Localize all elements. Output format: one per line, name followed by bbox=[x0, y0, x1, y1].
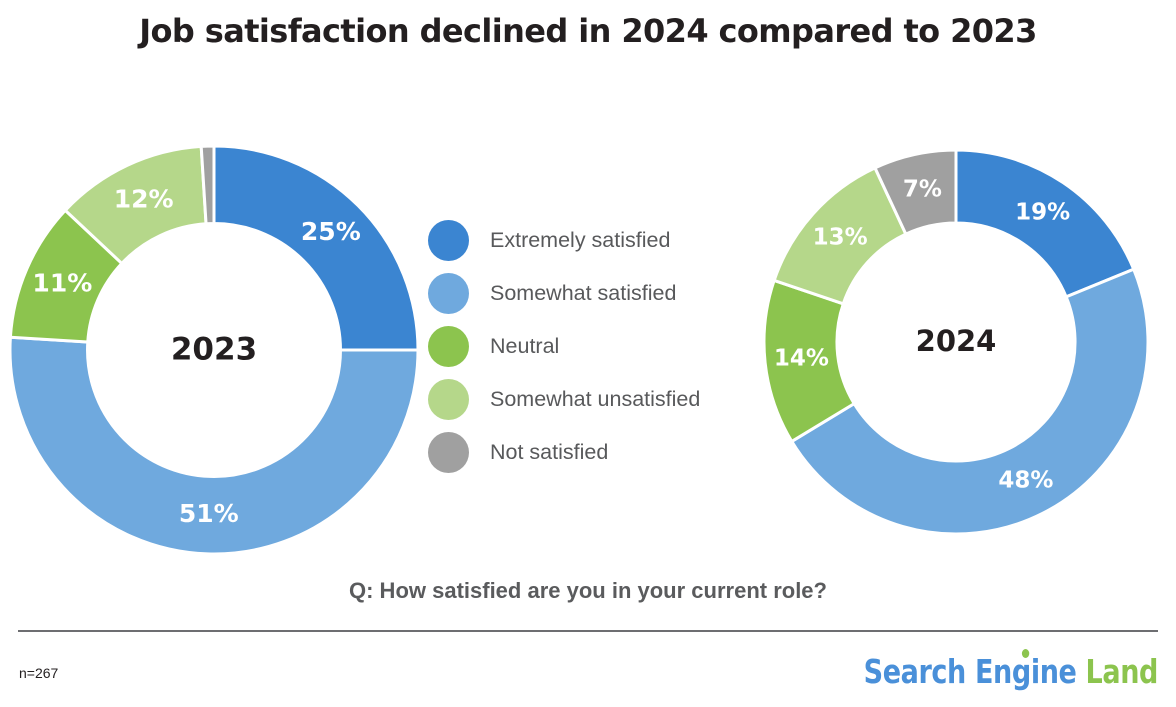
chart-title: Job satisfaction declined in 2024 compar… bbox=[0, 12, 1176, 50]
donut-center-label-2023: 2023 bbox=[171, 332, 257, 368]
legend-swatch-icon bbox=[428, 326, 469, 367]
logo-dot-icon bbox=[1022, 649, 1029, 658]
legend-label: Somewhat unsatisfied bbox=[490, 387, 700, 412]
legend-swatch-icon bbox=[428, 220, 469, 261]
donut-slice-value-label: 51% bbox=[179, 499, 239, 528]
donut-svg-2023: 2023 25%51%11%12%1% bbox=[8, 144, 420, 556]
legend-label: Somewhat satisfied bbox=[490, 281, 676, 306]
donut-svg-2024: 2024 19%48%14%13%7% bbox=[762, 148, 1150, 536]
donut-slice-value-label: 12% bbox=[114, 184, 174, 213]
legend-swatch-icon bbox=[428, 273, 469, 314]
legend-label: Not satisfied bbox=[490, 440, 608, 465]
chart-legend: Extremely satisfied Somewhat satisfied N… bbox=[428, 214, 758, 479]
legend-swatch-icon bbox=[428, 432, 469, 473]
donut-slice[interactable] bbox=[214, 146, 418, 350]
legend-item-somewhat-unsatisfied[interactable]: Somewhat unsatisfied bbox=[428, 373, 758, 426]
legend-item-somewhat-satisfied[interactable]: Somewhat satisfied bbox=[428, 267, 758, 320]
question-caption: Q: How satisfied are you in your current… bbox=[0, 578, 1176, 604]
legend-swatch-icon bbox=[428, 379, 469, 420]
sample-size-note: n=267 bbox=[19, 665, 58, 681]
logo-word-search: Search bbox=[864, 652, 966, 691]
legend-label: Extremely satisfied bbox=[490, 228, 670, 253]
footer-divider bbox=[18, 630, 1158, 632]
chart-canvas: Job satisfaction declined in 2024 compar… bbox=[0, 0, 1176, 707]
legend-item-not-satisfied[interactable]: Not satisfied bbox=[428, 426, 758, 479]
donut-slice-value-label: 11% bbox=[32, 268, 92, 297]
logo-word-land: Land bbox=[1085, 652, 1158, 691]
donut-slice-value-label: 19% bbox=[1015, 199, 1070, 225]
donut-slice-value-label: 14% bbox=[774, 345, 829, 371]
donut-chart-2024: 2024 19%48%14%13%7% bbox=[762, 148, 1150, 536]
donut-center-label-2024: 2024 bbox=[916, 324, 997, 358]
donut-chart-2023: 2023 25%51%11%12%1% bbox=[8, 144, 420, 556]
donut-slice-value-label: 48% bbox=[998, 467, 1053, 493]
search-engine-land-logo: Search Engine Land bbox=[864, 655, 1158, 688]
legend-item-extremely-satisfied[interactable]: Extremely satisfied bbox=[428, 214, 758, 267]
legend-item-neutral[interactable]: Neutral bbox=[428, 320, 758, 373]
donut-slice-value-label: 13% bbox=[813, 225, 868, 251]
donut-slice-value-label: 7% bbox=[903, 177, 942, 203]
donut-slice-value-label: 25% bbox=[301, 217, 361, 246]
legend-label: Neutral bbox=[490, 334, 559, 359]
logo-word-engine: Engine bbox=[975, 652, 1077, 691]
